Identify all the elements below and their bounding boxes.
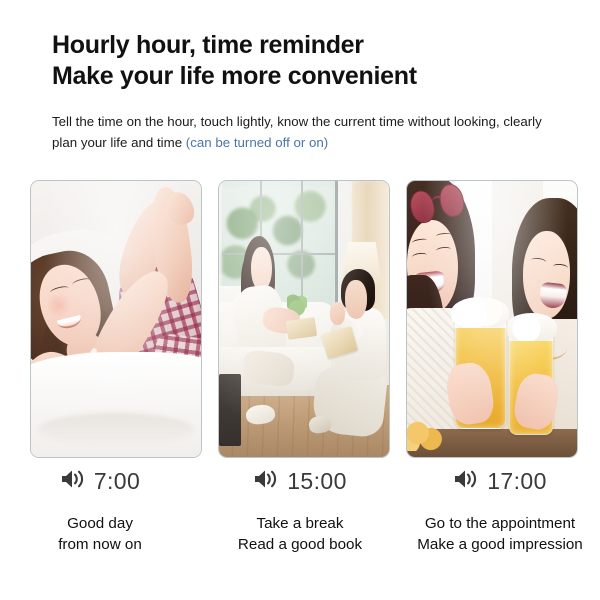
time-announcement-morning: 7:00 [0, 466, 200, 496]
caption-text-evening: Go to the appointment Make a good impres… [400, 514, 600, 555]
time-announcement-afternoon: 15:00 [200, 466, 400, 496]
photo-panel-afternoon [218, 180, 390, 458]
headline-line-1: Hourly hour, time reminder [52, 31, 364, 59]
caption-row: 7:00 Good day from now on 15:00 Take a b… [0, 466, 600, 555]
highlight-glow [407, 181, 577, 457]
caption-line-2: Make a good impression [400, 535, 600, 556]
time-value: 15:00 [287, 470, 347, 493]
speaker-icon [453, 468, 478, 495]
scene-waking-up [31, 181, 201, 457]
caption-line-1: Good day [0, 514, 200, 535]
time-announcement-evening: 17:00 [400, 466, 600, 496]
scene-friends-toasting [407, 181, 577, 457]
page-title: Hourly hour, time reminder Make your lif… [52, 30, 572, 91]
speaker-icon [60, 468, 85, 495]
highlight-glow [31, 181, 201, 457]
caption-text-morning: Good day from now on [0, 514, 200, 555]
caption-line-1: Take a break [200, 514, 400, 535]
header: Hourly hour, time reminder Make your lif… [52, 30, 572, 153]
subtitle-accent-text: (can be turned off or on) [186, 135, 328, 150]
photo-panel-evening [406, 180, 578, 458]
speaker-icon [253, 468, 278, 495]
caption-afternoon: 15:00 Take a break Read a good book [200, 466, 400, 555]
caption-line-1: Go to the appointment [400, 514, 600, 535]
caption-text-afternoon: Take a break Read a good book [200, 514, 400, 555]
time-value: 17:00 [487, 470, 547, 493]
subtitle-paragraph: Tell the time on the hour, touch lightly… [52, 111, 552, 153]
time-value: 7:00 [94, 470, 140, 493]
caption-line-2: from now on [0, 535, 200, 556]
scene-living-room [219, 181, 389, 457]
photo-panel-row [30, 180, 578, 458]
caption-morning: 7:00 Good day from now on [0, 466, 200, 555]
highlight-glow [219, 181, 389, 457]
caption-line-2: Read a good book [200, 535, 400, 556]
caption-evening: 17:00 Go to the appointment Make a good … [400, 466, 600, 555]
photo-panel-morning [30, 180, 202, 458]
headline-line-2: Make your life more convenient [52, 61, 572, 92]
